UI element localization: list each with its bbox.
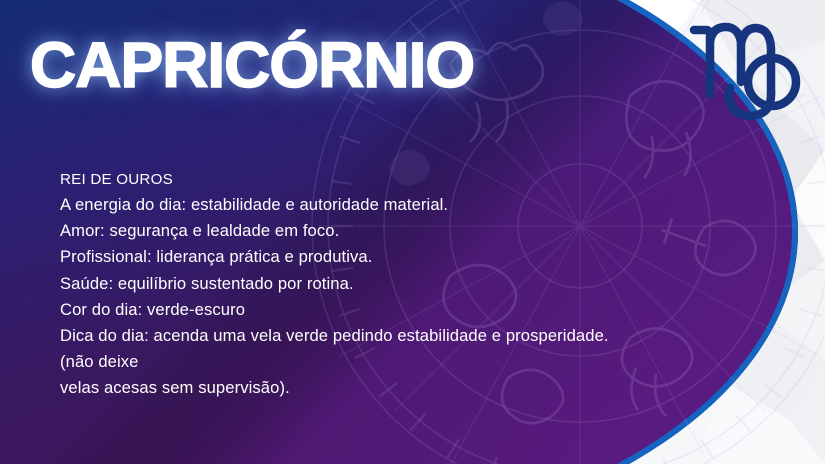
reading-line: Saúde: equilíbrio sustentado por rotina. <box>60 271 760 297</box>
reading-line: (não deixe <box>60 349 760 375</box>
reading-line: Dica do dia: acenda uma vela verde pedin… <box>60 323 760 349</box>
reading-line: velas acesas sem supervisão). <box>60 375 760 401</box>
reading-line: Cor do dia: verde-escuro <box>60 297 760 323</box>
capricorn-glyph-icon <box>676 8 808 140</box>
reading-line: A energia do dia: estabilidade e autorid… <box>60 192 760 218</box>
reading-line: Profissional: liderança prática e produt… <box>60 244 760 270</box>
capricorn-zodiac-glyph <box>676 8 808 140</box>
tarot-card-label: REI DE OUROS <box>60 168 760 192</box>
horoscope-card: CAPRICÓRNIO REI DE OUROS A energia do di… <box>0 0 825 464</box>
horoscope-text-block: REI DE OUROS A energia do dia: estabilid… <box>60 168 760 402</box>
reading-line: Amor: segurança e lealdade em foco. <box>60 218 760 244</box>
page-title: CAPRICÓRNIO <box>30 33 474 97</box>
